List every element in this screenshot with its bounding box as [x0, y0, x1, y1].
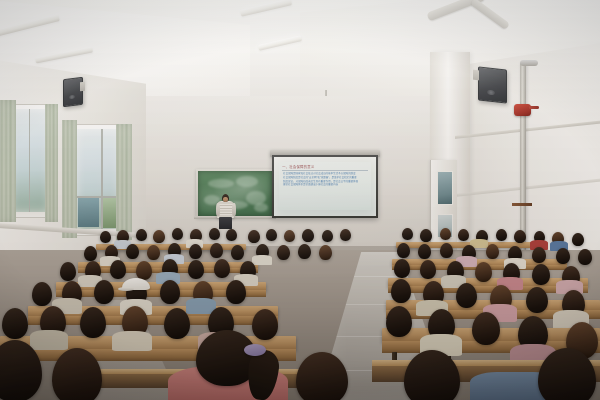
- curtain-rear-left[interactable]: [62, 120, 77, 238]
- lecturer-legs: [219, 217, 232, 229]
- speaker-cone-right: [487, 90, 495, 96]
- student-head: [172, 228, 183, 240]
- door-glass-pane: [437, 171, 453, 205]
- curtain-front-left[interactable]: [0, 100, 16, 222]
- student-head: [84, 246, 97, 261]
- student-head: [526, 287, 548, 313]
- student-head: [386, 306, 412, 337]
- standpipe-elbow: [520, 60, 538, 66]
- student-head: [578, 249, 592, 265]
- lecturer-face: [223, 197, 228, 202]
- chalkboard-ledge: [194, 216, 276, 219]
- student-head: [252, 309, 278, 340]
- student-head: [472, 312, 500, 345]
- student-head: [458, 229, 469, 241]
- student-head: [302, 229, 314, 242]
- student-head: [210, 243, 223, 258]
- student-head: [126, 244, 139, 259]
- student-head: [60, 262, 76, 281]
- student-head: [475, 262, 492, 282]
- student-head: [188, 260, 204, 279]
- student-head: [322, 230, 333, 242]
- curtain-front-right[interactable]: [45, 104, 58, 222]
- wall-speaker-bracket-left: [80, 82, 85, 92]
- student-head: [160, 280, 180, 304]
- student-head: [420, 260, 436, 279]
- window-rear-lower-pane: [78, 198, 99, 227]
- student-head: [397, 243, 410, 258]
- projection-screen-surface: 一、社会保障的意义 社会保障是国家和社会依法对社会成员的基本生活予以保障的制度 …: [274, 157, 376, 216]
- standpipe-valve-handle[interactable]: [529, 106, 539, 109]
- lecturer-arm-right: [232, 203, 236, 216]
- cap-brim: [118, 287, 134, 291]
- student-head: [277, 245, 290, 260]
- lecturer-arm-left: [216, 203, 220, 216]
- student-head: [136, 229, 147, 241]
- student-head: [209, 228, 220, 240]
- student-head: [440, 228, 451, 240]
- student-head: [418, 244, 431, 259]
- slide-title-rule: [282, 170, 368, 171]
- student-head: [456, 283, 477, 308]
- wall-speaker-right: [478, 66, 507, 103]
- student-head: [189, 244, 202, 259]
- student-head: [153, 230, 165, 243]
- curtain-rear-right[interactable]: [116, 124, 132, 240]
- student-head: [391, 279, 411, 303]
- presentation-slide: 一、社会保障的意义 社会保障是国家和社会依法对社会成员的基本生活予以保障的制度 …: [279, 162, 371, 210]
- student-head: [340, 229, 351, 241]
- student-head: [298, 244, 311, 259]
- slide-title: 一、社会保障的意义: [282, 164, 371, 169]
- student-head: [226, 229, 237, 241]
- student-head: [94, 280, 114, 304]
- lecture-hall-photo: 一、社会保障的意义 社会保障是国家和社会依法对社会成员的基本生活予以保障的制度 …: [0, 0, 600, 400]
- student-torso: [30, 330, 68, 350]
- wall-speaker-bracket-right: [473, 70, 479, 81]
- student-head: [440, 243, 453, 258]
- window-front-mullion: [29, 109, 30, 212]
- student-head: [284, 230, 295, 242]
- student-head: [100, 231, 111, 243]
- student-head: [266, 229, 277, 241]
- student-head: [394, 259, 410, 278]
- student-head: [532, 264, 550, 285]
- hair-scrunchie: [244, 344, 266, 356]
- student-head: [32, 282, 52, 306]
- student-head: [136, 261, 152, 280]
- slide-bullet: 健全社会保障体系是全面建成小康社会的重要内容: [283, 183, 368, 187]
- student-head: [496, 229, 507, 241]
- student-torso: [252, 255, 272, 265]
- ceiling-fan-far-right: [382, 0, 502, 34]
- student-head: [532, 247, 546, 263]
- student-torso: [112, 331, 152, 351]
- student-head: [80, 307, 106, 338]
- student-head: [572, 233, 584, 246]
- student-head: [556, 248, 570, 264]
- student-head: [420, 229, 432, 242]
- student-head: [147, 245, 160, 260]
- student-head: [319, 245, 332, 260]
- student-head: [231, 245, 244, 260]
- student-head: [402, 228, 413, 240]
- projection-screen: 一、社会保障的意义 社会保障是国家和社会依法对社会成员的基本生活予以保障的制度 …: [272, 155, 378, 218]
- student-head: [248, 230, 260, 243]
- student-head: [2, 308, 28, 339]
- student-head: [486, 244, 499, 259]
- student-head: [514, 230, 526, 243]
- student-head: [214, 259, 230, 278]
- student-head: [226, 280, 246, 304]
- standpipe-bracket: [512, 203, 532, 206]
- student-head: [164, 308, 190, 339]
- student-head: [110, 260, 126, 279]
